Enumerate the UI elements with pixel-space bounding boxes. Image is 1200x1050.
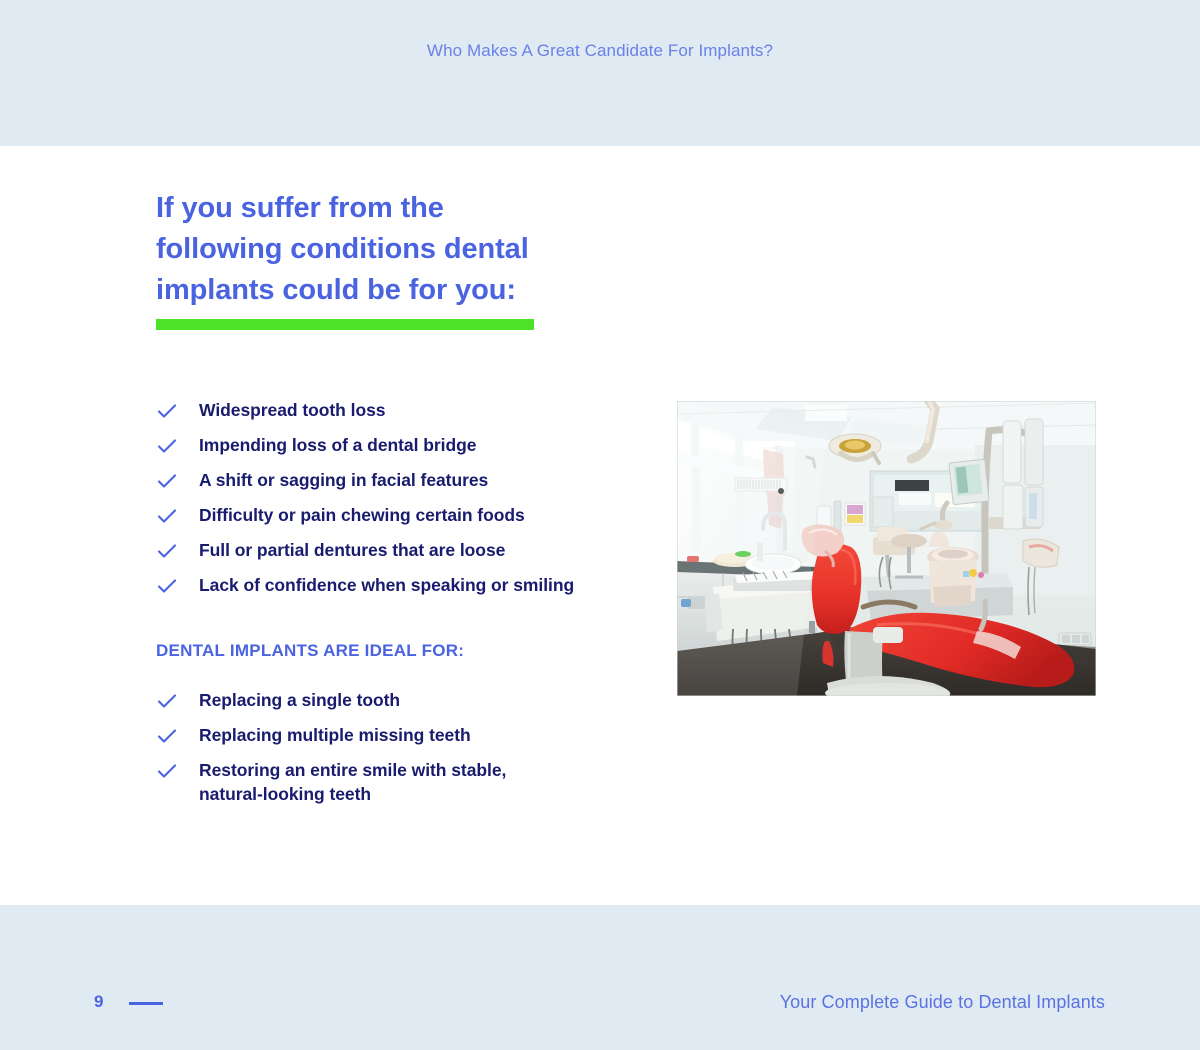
check-icon	[156, 690, 178, 712]
check-icon	[156, 760, 178, 782]
header-band	[0, 0, 1200, 146]
list-item-label: Replacing a single tooth	[199, 688, 400, 712]
page-number: 9	[94, 992, 104, 1012]
section-label: DENTAL IMPLANTS ARE IDEAL FOR:	[156, 641, 464, 661]
check-icon	[156, 725, 178, 747]
check-icon	[156, 575, 178, 597]
check-icon	[156, 470, 178, 492]
ideal-for-list: Replacing a single tooth Replacing multi…	[156, 688, 506, 806]
list-item: A shift or sagging in facial features	[156, 468, 574, 492]
footer-title: Your Complete Guide to Dental Implants	[780, 992, 1105, 1013]
list-item: Restoring an entire smile with stable, n…	[156, 758, 506, 806]
list-item: Lack of confidence when speaking or smil…	[156, 573, 574, 597]
list-item-label: Replacing multiple missing teeth	[199, 723, 471, 747]
list-item-label: Full or partial dentures that are loose	[199, 538, 505, 562]
check-icon	[156, 505, 178, 527]
list-item: Difficulty or pain chewing certain foods	[156, 503, 574, 527]
list-item: Widespread tooth loss	[156, 398, 574, 422]
list-item-label: Widespread tooth loss	[199, 398, 385, 422]
footer-band	[0, 905, 1200, 1050]
list-item-label: A shift or sagging in facial features	[199, 468, 488, 492]
list-item: Full or partial dentures that are loose	[156, 538, 574, 562]
check-icon	[156, 540, 178, 562]
list-item: Impending loss of a dental bridge	[156, 433, 574, 457]
accent-rule	[156, 319, 534, 330]
page-title: If you suffer from the following conditi…	[156, 188, 576, 311]
page-root: Who Makes A Great Candidate For Implants…	[0, 0, 1200, 1050]
list-item-label: Lack of confidence when speaking or smil…	[199, 573, 574, 597]
list-item-label: Impending loss of a dental bridge	[199, 433, 476, 457]
list-item: Replacing a single tooth	[156, 688, 506, 712]
dental-surgery-photo	[677, 401, 1096, 696]
check-icon	[156, 400, 178, 422]
list-item-label: Difficulty or pain chewing certain foods	[199, 503, 525, 527]
list-item-label: Restoring an entire smile with stable, n…	[199, 758, 506, 806]
conditions-list: Widespread tooth loss Impending loss of …	[156, 398, 574, 597]
list-item: Replacing multiple missing teeth	[156, 723, 506, 747]
check-icon	[156, 435, 178, 457]
running-head: Who Makes A Great Candidate For Implants…	[0, 41, 1200, 61]
page-number-dash	[129, 1002, 163, 1005]
